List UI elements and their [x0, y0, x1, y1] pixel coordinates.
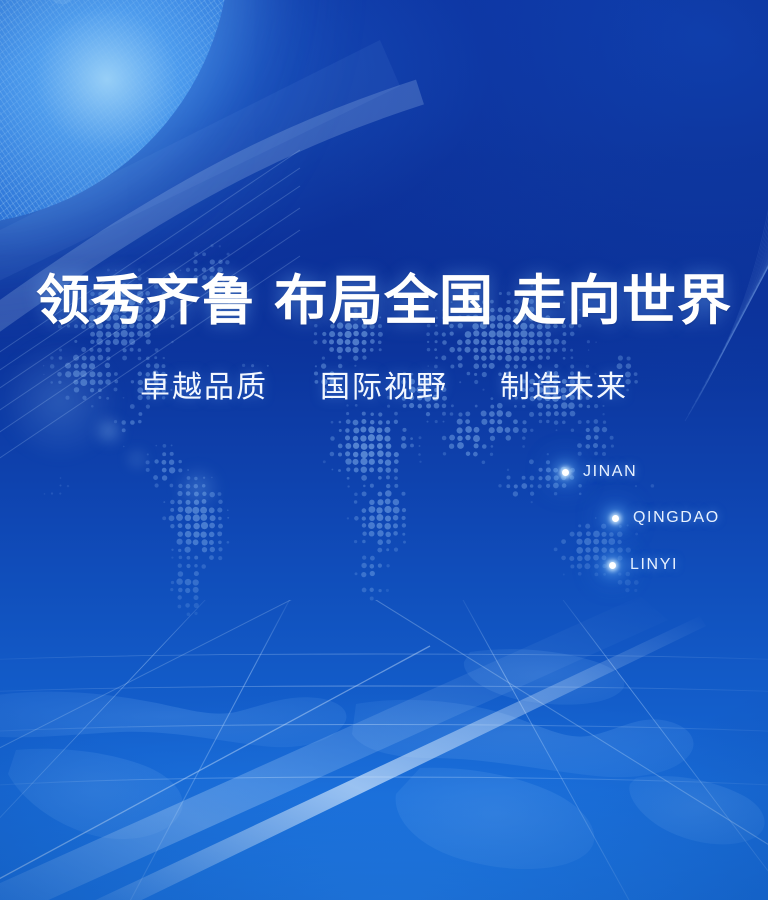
city-marker-linyi[interactable]: LINYI: [609, 556, 678, 574]
city-label: LINYI: [630, 556, 678, 574]
light-streaks: [0, 0, 768, 900]
edge-vignette: [0, 0, 768, 900]
city-label: QINGDAO: [633, 509, 720, 527]
promo-banner: 领秀齐鲁布局全国走向世界 卓越品质国际视野制造未来 JINAN QINGDAO …: [0, 0, 768, 900]
latitude-longitude-grid: [0, 600, 768, 900]
earth-surface-texture: [0, 0, 230, 225]
earth-body: [0, 0, 230, 225]
glow-dot-marker-icon: [562, 469, 569, 476]
subline-phrase-3: 制造未来: [500, 371, 628, 404]
background-wash-top: [0, 0, 768, 900]
background-wash-bottom: [0, 0, 768, 900]
bokeh-blob: [128, 450, 146, 468]
subline-phrase-1: 卓越品质: [140, 371, 268, 404]
page-subtitle: 卓越品质国际视野制造未来: [0, 371, 768, 405]
city-marker-qingdao[interactable]: QINGDAO: [612, 509, 720, 527]
earth-globe-limb: [0, 0, 230, 225]
city-marker-jinan[interactable]: JINAN: [562, 463, 637, 481]
bokeh-blob: [96, 418, 122, 444]
bokeh-blob: [176, 466, 220, 510]
headline-phrase-1: 领秀齐鲁: [36, 271, 256, 331]
subline-phrase-2: 国际视野: [320, 371, 448, 404]
glow-dot-marker-icon: [609, 562, 616, 569]
earth-atmosphere-rim: [0, 0, 236, 231]
glow-dot-marker-icon: [612, 515, 619, 522]
headline-phrase-3: 走向世界: [512, 271, 732, 331]
headline-phrase-2: 布局全国: [274, 271, 494, 331]
city-label: JINAN: [583, 463, 637, 481]
page-title: 领秀齐鲁布局全国走向世界: [0, 272, 768, 330]
halftone-dot-world-map: [0, 186, 768, 656]
